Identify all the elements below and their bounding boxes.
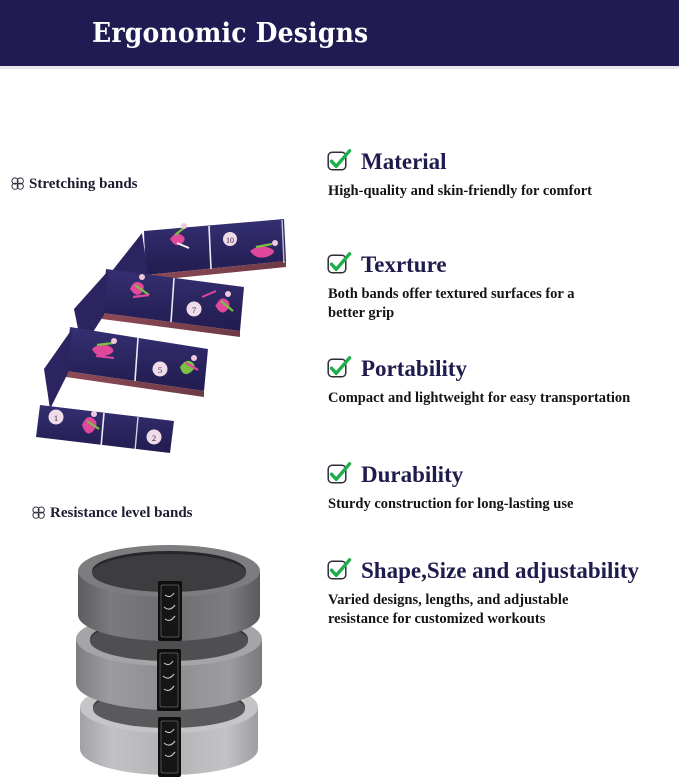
feature-heading-row: Material [326, 145, 679, 177]
feature-heading-row: Texrture [326, 248, 679, 280]
svg-text:10: 10 [226, 236, 234, 245]
feature-heading-row: Durability [326, 458, 679, 490]
feature-description: Sturdy construction for long-lasting use [328, 495, 648, 514]
resistance-band-dark [78, 545, 260, 641]
section-label-text: Stretching bands [29, 176, 138, 193]
feature-title: Portability [361, 357, 467, 380]
feature-item-portability: Portability Compact and lightweight for … [326, 352, 679, 408]
feature-item-texrture: Texrture Both bands offer textured surfa… [326, 248, 679, 324]
band-segment-row-3: 5 [66, 327, 208, 397]
green-check-box-icon [326, 557, 352, 583]
feature-item-material: Material High-quality and skin-friendly … [326, 145, 679, 201]
band-segment-row-1: 10 [144, 219, 286, 281]
page-body: Stretching bands [0, 69, 679, 716]
svg-text:1: 1 [54, 413, 58, 423]
page-header: Ergonomic Designs [0, 0, 679, 66]
green-check-box-icon [326, 251, 352, 277]
four-petal-flower-icon [9, 175, 27, 193]
section-label-stretching-bands: Stretching bands [9, 175, 138, 193]
stretching-band-image: 10 7 [34, 209, 296, 457]
feature-description: Varied designs, lengths, and adjustable … [328, 591, 571, 630]
feature-title: Material [361, 150, 447, 173]
svg-text:7: 7 [192, 305, 196, 315]
green-check-box-icon [326, 355, 352, 381]
section-label-resistance-bands: Resistance level bands [30, 504, 193, 522]
four-petal-flower-icon [30, 504, 48, 522]
feature-heading-row: Portability [326, 352, 679, 384]
svg-text:5: 5 [158, 365, 162, 375]
feature-description: Both bands offer textured surfaces for a… [328, 285, 596, 324]
green-check-box-icon [326, 461, 352, 487]
feature-item-shape-size-adjustability: Shape,Size and adjustability Varied desi… [326, 554, 679, 630]
feature-heading-row: Shape,Size and adjustability [326, 554, 679, 586]
resistance-bands-image [62, 531, 277, 783]
feature-description: Compact and lightweight for easy transpo… [328, 389, 648, 408]
band-segment-row-2: 7 [102, 269, 244, 337]
feature-item-durability: Durability Sturdy construction for long-… [326, 458, 679, 514]
band-segment-row-4: 1 2 [36, 405, 174, 453]
feature-title: Durability [361, 463, 463, 486]
feature-title: Texrture [361, 253, 447, 276]
section-label-text: Resistance level bands [50, 505, 193, 522]
product-images-column: Stretching bands [0, 69, 320, 716]
feature-title: Shape,Size and adjustability [361, 559, 639, 582]
svg-text:2: 2 [152, 433, 156, 443]
page-title: Ergonomic Designs [92, 20, 368, 47]
feature-description: High-quality and skin-friendly for comfo… [328, 182, 648, 201]
green-check-box-icon [326, 148, 352, 174]
